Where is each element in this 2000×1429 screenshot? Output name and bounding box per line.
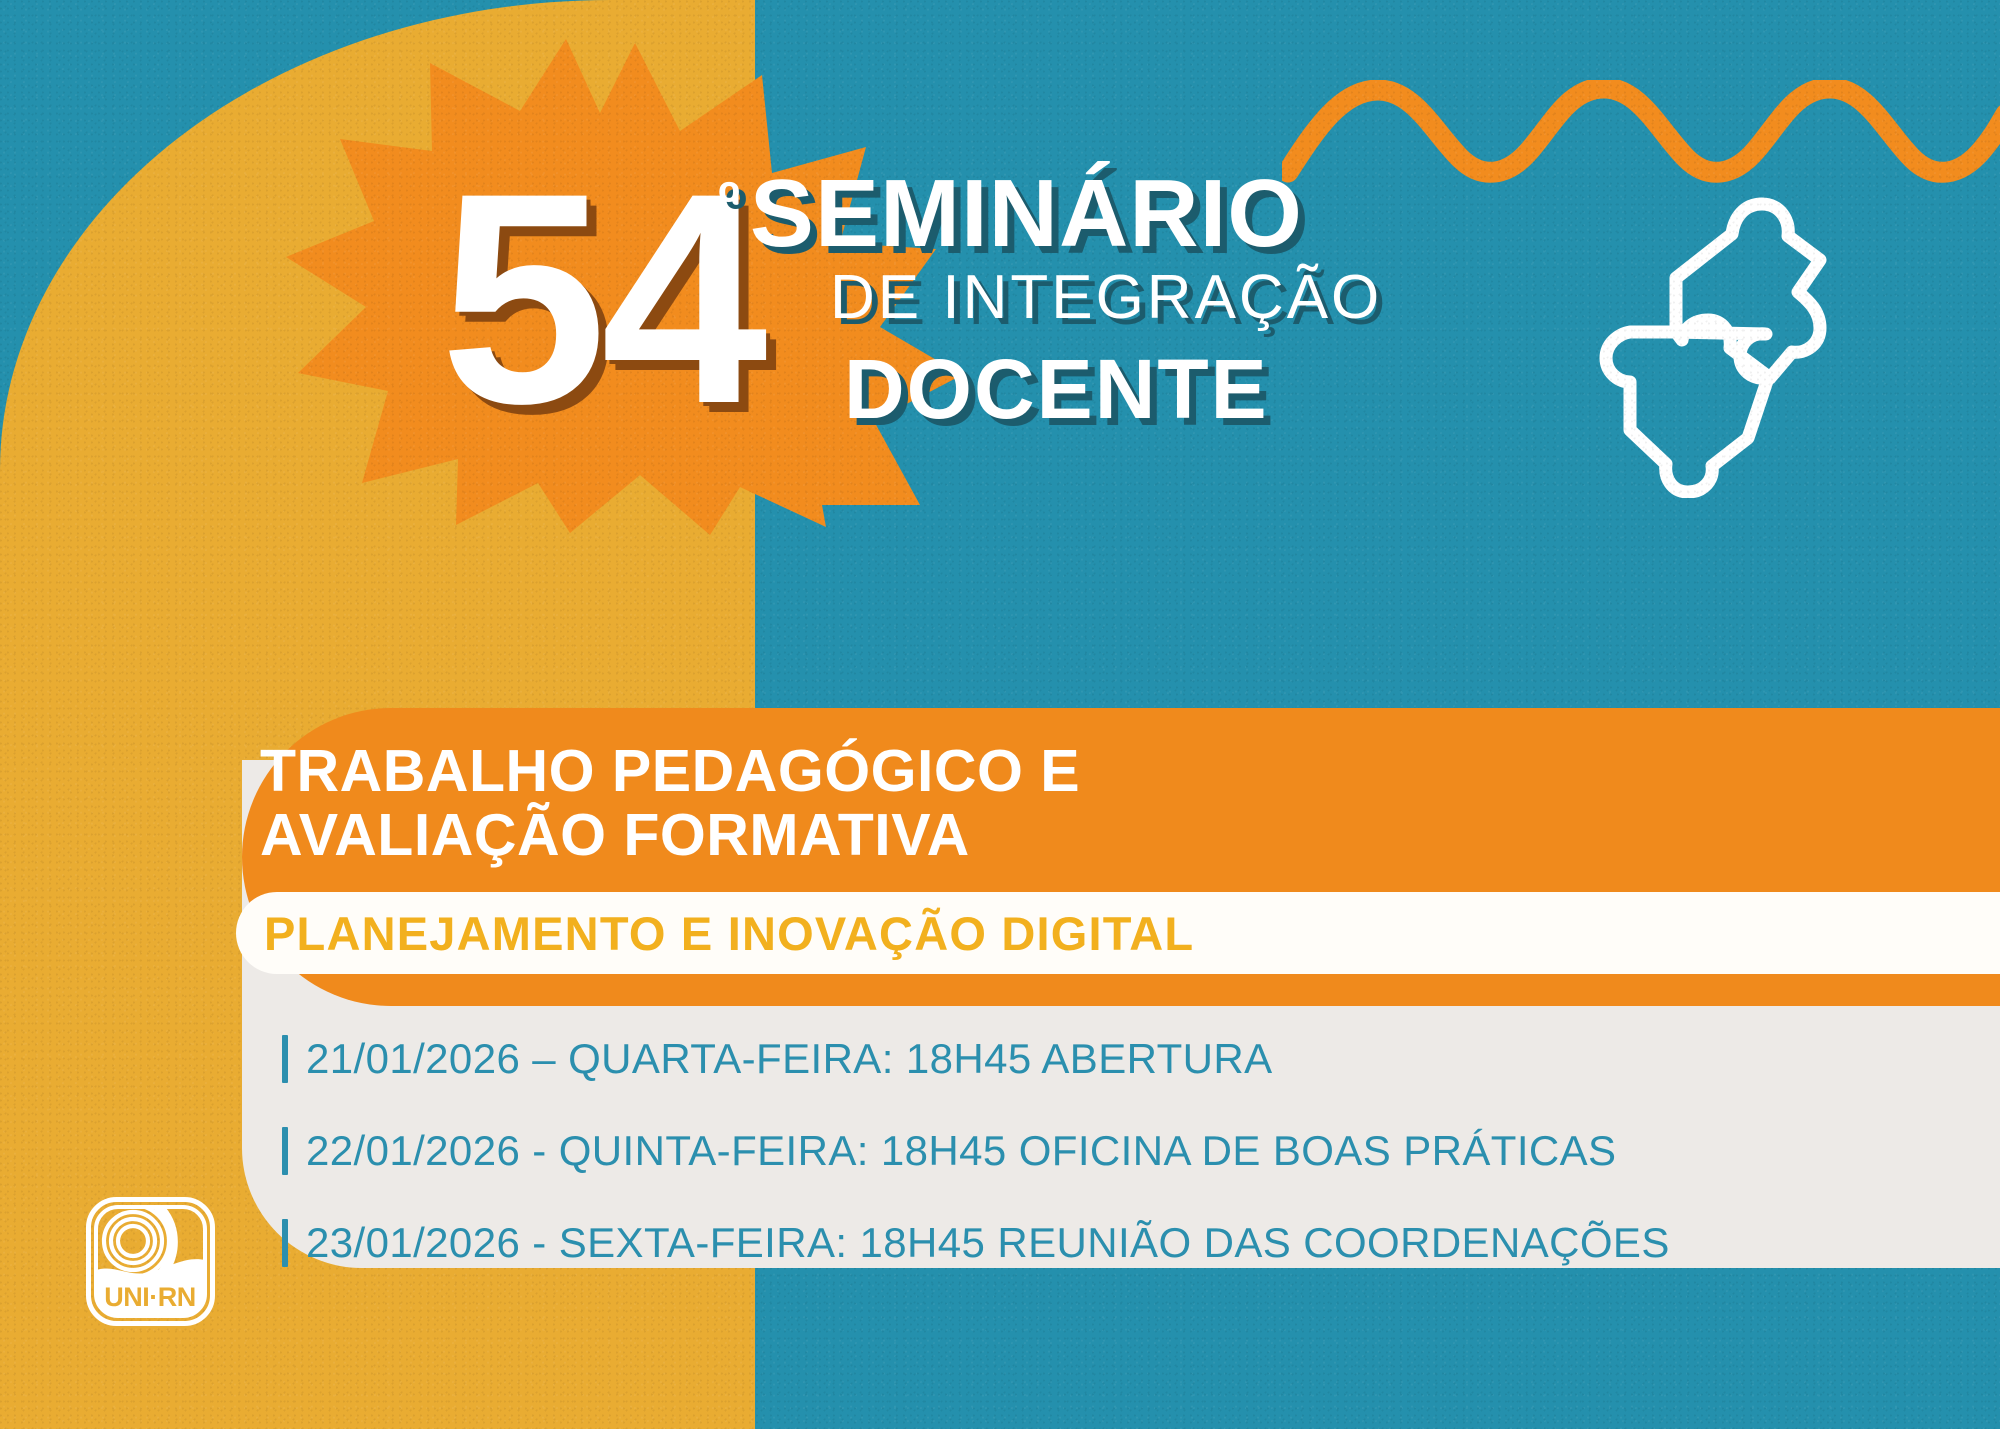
schedule-item-bar: [282, 1035, 288, 1083]
schedule-item: 21/01/2026 – QUARTA-FEIRA: 18H45 ABERTUR…: [282, 1020, 1982, 1098]
ordinal-suffix: º: [718, 175, 740, 230]
seminar-title-block: º SEMINÁRIO DE INTEGRAÇÃO DOCENTE: [718, 170, 1518, 438]
theme-heading-line1: TRABALHO PEDAGÓGICO E: [260, 740, 1080, 804]
theme-heading: TRABALHO PEDAGÓGICO E AVALIAÇÃO FORMATIV…: [260, 740, 1080, 867]
event-poster: 54 º SEMINÁRIO DE INTEGRAÇÃO DOCENTE TRA…: [0, 0, 2000, 1429]
theme-heading-line2: AVALIAÇÃO FORMATIVA: [260, 804, 1080, 868]
schedule-item-bar: [282, 1127, 288, 1175]
edition-number: 54: [440, 148, 762, 448]
title-de-integracao: DE INTEGRAÇÃO: [830, 262, 1518, 333]
schedule-list: 21/01/2026 – QUARTA-FEIRA: 18H45 ABERTUR…: [282, 1020, 1982, 1296]
schedule-item-label: 22/01/2026 - QUINTA-FEIRA: 18H45 OFICINA…: [306, 1127, 1616, 1175]
title-seminario: SEMINÁRIO: [750, 170, 1303, 258]
theme-subtitle: PLANEJAMENTO E INOVAÇÃO DIGITAL: [264, 906, 1194, 961]
schedule-item: 23/01/2026 - SEXTA-FEIRA: 18H45 REUNIÃO …: [282, 1204, 1982, 1282]
puzzle-pieces-icon: [1588, 178, 1898, 498]
unirn-logo-icon: UNI·RN: [85, 1196, 216, 1327]
schedule-item-label: 23/01/2026 - SEXTA-FEIRA: 18H45 REUNIÃO …: [306, 1219, 1670, 1267]
schedule-item-bar: [282, 1219, 288, 1267]
schedule-item: 22/01/2026 - QUINTA-FEIRA: 18H45 OFICINA…: [282, 1112, 1982, 1190]
schedule-item-label: 21/01/2026 – QUARTA-FEIRA: 18H45 ABERTUR…: [306, 1035, 1273, 1083]
svg-text:UNI·RN: UNI·RN: [104, 1282, 196, 1312]
title-docente: DOCENTE: [844, 341, 1518, 438]
subtitle-pill: PLANEJAMENTO E INOVAÇÃO DIGITAL: [236, 892, 2000, 974]
